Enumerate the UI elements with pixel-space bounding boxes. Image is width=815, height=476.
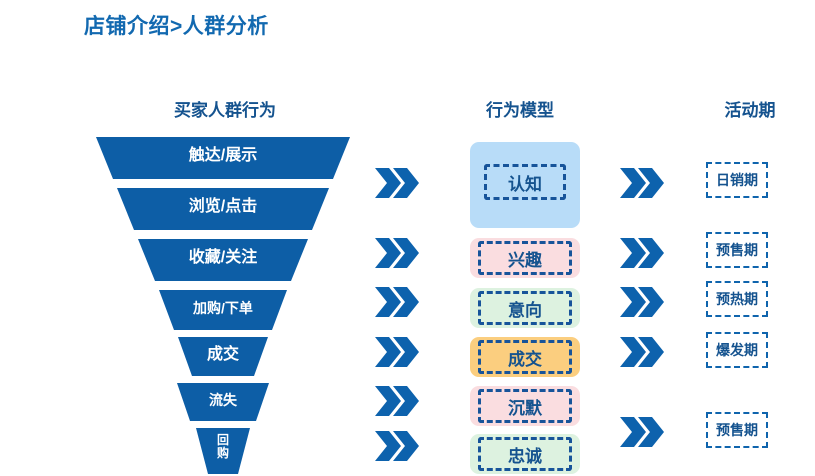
funnel-segment-label: 触达/展示 <box>123 148 323 165</box>
page-title: 店铺介绍>人群分析 <box>84 10 269 40</box>
double-chevron-right-icon <box>620 287 666 317</box>
behavior-model-label: 忠诚 <box>478 437 572 471</box>
funnel-segment-label: 加购/下单 <box>123 301 323 316</box>
funnel-segment-label: 流失 <box>123 393 323 408</box>
column-header-buyer-behavior: 买家人群行为 <box>97 96 353 121</box>
behavior-model-label: 沉默 <box>478 389 572 423</box>
activity-period-box[interactable]: 爆发期 <box>706 332 768 368</box>
behavior-model-box[interactable]: 兴趣 <box>470 238 580 278</box>
behavior-model-label: 成交 <box>478 340 572 374</box>
double-chevron-right-icon <box>375 337 421 367</box>
behavior-model-label: 意向 <box>478 291 572 325</box>
behavior-model-box[interactable]: 认知 <box>470 142 580 228</box>
activity-period-box[interactable]: 预售期 <box>706 412 768 448</box>
activity-period-box[interactable]: 日销期 <box>706 162 768 198</box>
double-chevron-right-icon <box>620 337 666 367</box>
funnel-segment-label: 成交 <box>123 347 323 364</box>
behavior-model-box[interactable]: 意向 <box>470 288 580 328</box>
double-chevron-right-icon <box>620 168 666 198</box>
behavior-model-label: 认知 <box>484 164 566 200</box>
double-chevron-right-icon <box>375 386 421 416</box>
double-chevron-right-icon <box>620 417 666 447</box>
double-chevron-right-icon <box>375 431 421 461</box>
double-chevron-right-icon <box>620 238 666 268</box>
funnel-segment-label: 浏览/点击 <box>123 199 323 216</box>
double-chevron-right-icon <box>375 287 421 317</box>
behavior-model-box[interactable]: 沉默 <box>470 386 580 426</box>
behavior-model-box[interactable]: 成交 <box>470 337 580 377</box>
funnel-segment-label: 回购 <box>123 434 323 459</box>
double-chevron-right-icon <box>375 238 421 268</box>
column-header-activity-period: 活动期 <box>690 96 810 121</box>
behavior-model-box[interactable]: 忠诚 <box>470 434 580 474</box>
double-chevron-right-icon <box>375 168 421 198</box>
activity-period-box[interactable]: 预售期 <box>706 232 768 268</box>
funnel-segment-label: 收藏/关注 <box>123 250 323 267</box>
column-header-behavior-model: 行为模型 <box>455 96 585 121</box>
behavior-model-label: 兴趣 <box>478 241 572 275</box>
activity-period-box[interactable]: 预热期 <box>706 281 768 317</box>
